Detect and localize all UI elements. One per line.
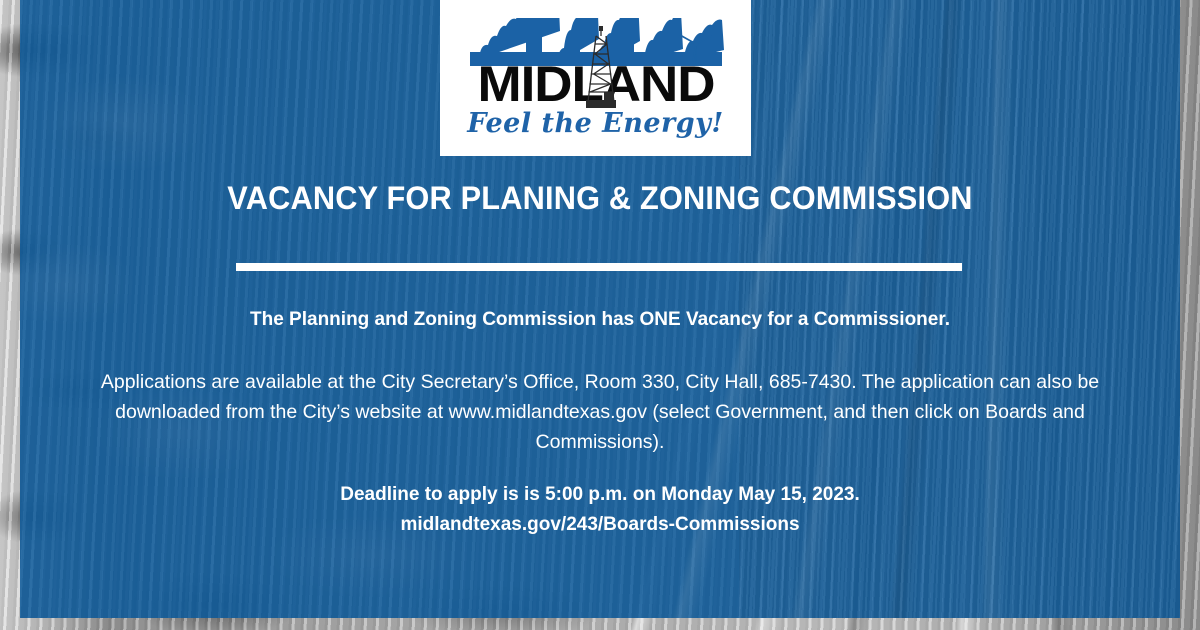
title-divider [236,263,962,271]
boards-commissions-url[interactable]: midlandtexas.gov/243/Boards-Commissions [20,510,1180,540]
vacancy-summary: The Planning and Zoning Commission has O… [20,309,1180,331]
application-instructions: Applications are available at the City S… [80,367,1120,457]
deadline-block: Deadline to apply is is 5:00 p.m. on Mon… [20,480,1180,540]
flyer-content: VACANCY FOR PLANING & ZONING COMMISSION … [20,0,1180,618]
page-title: VACANCY FOR PLANING & ZONING COMMISSION [43,180,1157,217]
deadline-date: Deadline to apply is is 5:00 p.m. on Mon… [340,484,860,505]
